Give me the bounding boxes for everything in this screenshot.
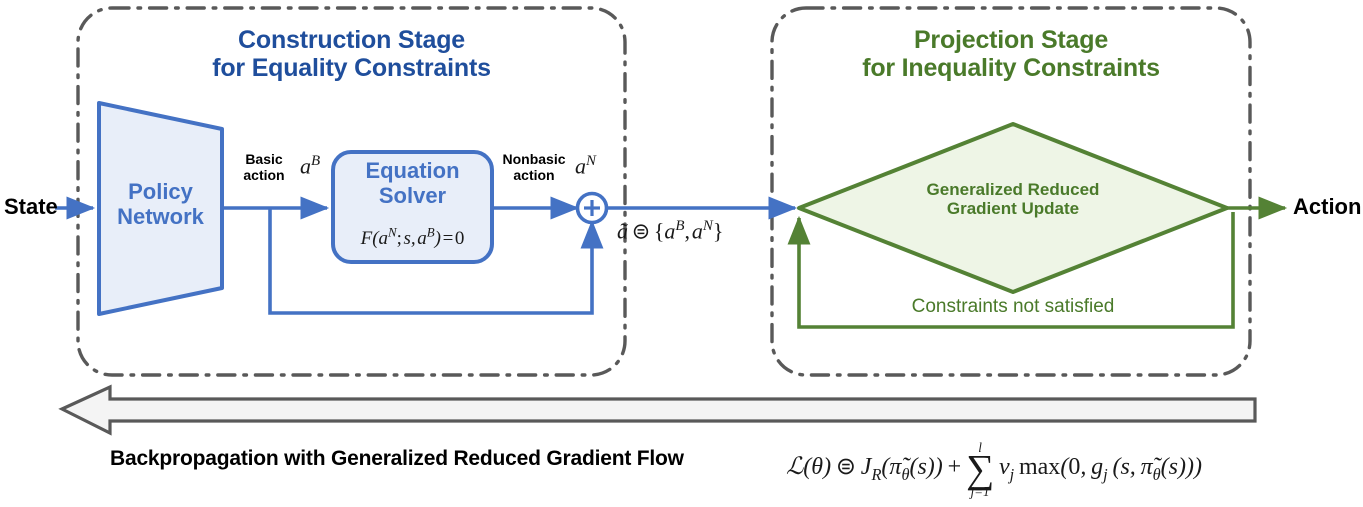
loss-formula-glyphs: ℒ(θ) ⊜ JR(π̃θ(s)) + l∑j=1 νj max(0, gj (… bbox=[786, 454, 1202, 480]
stage-title-construction: Construction Stage for Equality Constrai… bbox=[78, 26, 625, 82]
edge-label-nonbasic-action: Nonbasic action bbox=[495, 152, 573, 183]
merged-action-definition: ã ⊜ {aB, aN} bbox=[617, 218, 723, 244]
policy-network-label-line2: Network bbox=[99, 205, 222, 230]
edge-label-basic-action-line1: Basic bbox=[231, 152, 297, 168]
diagram-canvas: Construction Stage for Equality Constrai… bbox=[0, 0, 1363, 507]
stage-title-projection-line2: for Inequality Constraints bbox=[772, 54, 1250, 82]
policy-network-label: Policy Network bbox=[99, 180, 222, 229]
loss-formula: ℒ(θ) ⊜ JR(π̃θ(s)) + l∑j=1 νj max(0, gj (… bbox=[786, 440, 1202, 497]
equation-solver-label-line2: Solver bbox=[333, 184, 492, 209]
backpropagation-block-arrow bbox=[62, 387, 1255, 433]
equation-solver-formula-glyphs: F(aN; s, aB) = 0 bbox=[361, 228, 465, 249]
output-action-label: Action bbox=[1293, 195, 1361, 220]
input-state-label: State bbox=[4, 195, 58, 220]
edge-label-basic-action-line2: action bbox=[231, 168, 297, 184]
stage-title-construction-line1: Construction Stage bbox=[78, 26, 625, 54]
edge-label-basic-action: Basic action bbox=[231, 152, 297, 183]
grg-update-label-line2: Gradient Update bbox=[873, 199, 1153, 218]
backpropagation-caption: Backpropagation with Generalized Reduced… bbox=[110, 447, 684, 471]
stage-title-construction-line2: for Equality Constraints bbox=[78, 54, 625, 82]
stage-title-projection-line1: Projection Stage bbox=[772, 26, 1250, 54]
edge-symbol-basic-action: aB bbox=[300, 153, 320, 179]
grg-update-label: Generalized Reduced Gradient Update bbox=[873, 180, 1153, 218]
feedback-loop-label: Constraints not satisfied bbox=[873, 296, 1153, 317]
equation-solver-formula: F(aN; s, aB) = 0 bbox=[333, 226, 492, 250]
edge-symbol-nonbasic-action: aN bbox=[575, 153, 596, 179]
policy-network-label-line1: Policy bbox=[99, 180, 222, 205]
equation-solver-label-line1: Equation bbox=[333, 159, 492, 184]
grg-update-label-line1: Generalized Reduced bbox=[873, 180, 1153, 199]
equation-solver-label: Equation Solver bbox=[333, 159, 492, 208]
edge-label-nonbasic-action-line1: Nonbasic bbox=[495, 152, 573, 168]
edge-label-nonbasic-action-line2: action bbox=[495, 168, 573, 184]
stage-title-projection: Projection Stage for Inequality Constrai… bbox=[772, 26, 1250, 82]
